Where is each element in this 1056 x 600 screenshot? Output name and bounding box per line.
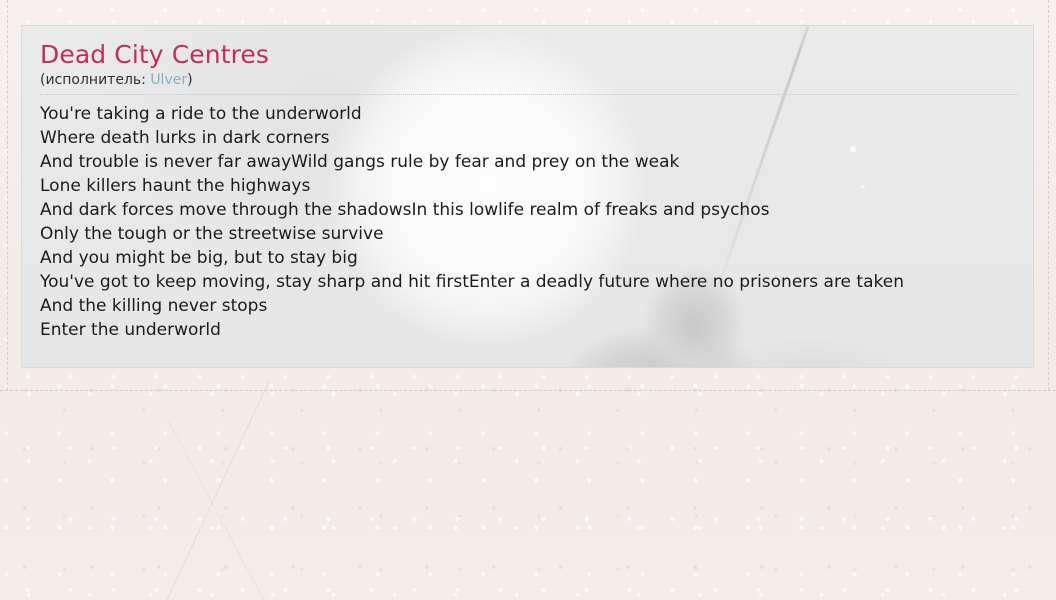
- artist-link[interactable]: Ulver: [150, 72, 187, 88]
- lyrics-body: You're taking a ride to the underworld W…: [40, 102, 1015, 342]
- artist-line: (исполнитель: Ulver): [40, 71, 1015, 90]
- page-dashed-rule-left: [7, 0, 8, 390]
- lyric-line: Where death lurks in dark corners: [40, 126, 1015, 150]
- lyric-line: And you might be big, but to stay big: [40, 246, 1015, 270]
- lyric-line: And trouble is never far awayWild gangs …: [40, 150, 1015, 174]
- lyric-line: You're taking a ride to the underworld: [40, 102, 1015, 126]
- lyric-line: Enter the underworld: [40, 318, 1015, 342]
- artist-prefix-label: (исполнитель:: [40, 72, 150, 88]
- lyrics-card-content: Dead City Centres (исполнитель: Ulver) Y…: [22, 26, 1033, 342]
- lyric-line: You've got to keep moving, stay sharp an…: [40, 270, 1015, 294]
- lyric-line: Only the tough or the streetwise survive: [40, 222, 1015, 246]
- header-separator: [40, 94, 1018, 95]
- page-dashed-rule-right: [1048, 0, 1049, 390]
- lyric-line: And dark forces move through the shadows…: [40, 198, 1015, 222]
- lyrics-card: Dead City Centres (исполнитель: Ulver) Y…: [21, 25, 1034, 368]
- lyric-line: Lone killers haunt the highways: [40, 174, 1015, 198]
- song-title: Dead City Centres: [40, 40, 1015, 70]
- lyric-line: And the killing never stops: [40, 294, 1015, 318]
- artist-suffix-label: ): [187, 72, 192, 88]
- page-dashed-rule-horizontal: [0, 390, 1056, 391]
